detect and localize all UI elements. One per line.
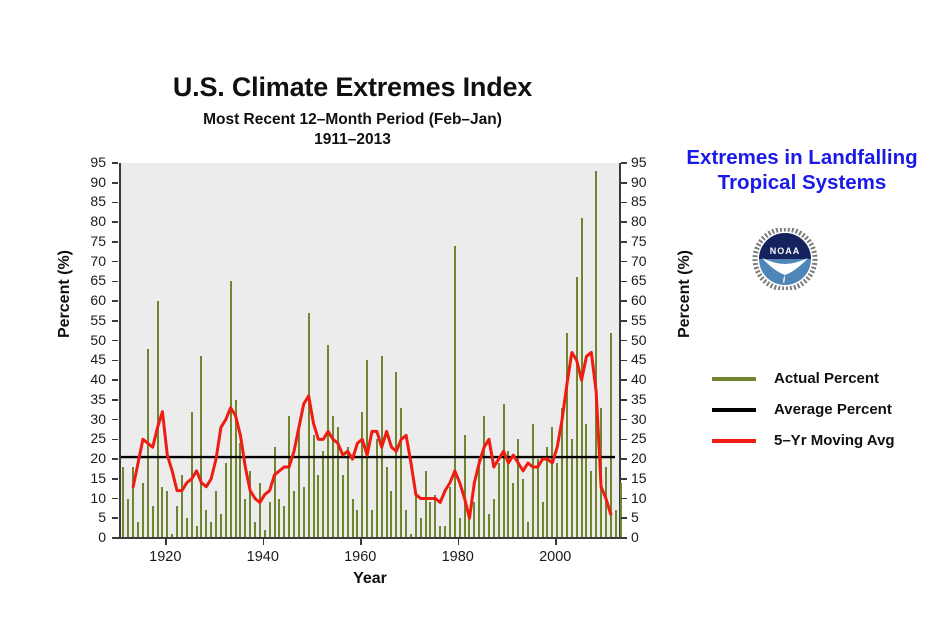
svg-text:NOAA: NOAA (770, 246, 801, 256)
plot-area (119, 163, 621, 538)
y-tick-left (112, 478, 118, 480)
y-tick-right (621, 320, 627, 322)
x-tick-label: 1960 (330, 549, 390, 565)
y-tick-label-right: 80 (631, 213, 661, 229)
y-tick-right (621, 498, 627, 500)
y-tick-left (112, 261, 118, 263)
y-tick-right (621, 340, 627, 342)
legend-label-average-percent: Average Percent (774, 399, 892, 421)
x-tick (360, 538, 362, 545)
x-tick (458, 538, 460, 545)
y-tick-label-right: 95 (631, 154, 661, 170)
x-tick (555, 538, 557, 545)
y-tick-label-right: 25 (631, 430, 661, 446)
y-tick-right (621, 300, 627, 302)
y-tick-right (621, 517, 627, 519)
moving-average-line (133, 352, 611, 518)
y-tick-label-right: 45 (631, 351, 661, 367)
subtitle-line-1: Most Recent 12–Month Period (Feb–Jan) (0, 111, 705, 129)
x-tick (263, 538, 265, 545)
y-tick-right (621, 439, 627, 441)
y-tick-label-right: 90 (631, 174, 661, 190)
y-tick-label-right: 70 (631, 253, 661, 269)
side-heading: Extremes in Landfalling Tropical Systems (676, 145, 928, 195)
y-tick-label-left: 45 (78, 351, 106, 367)
y-tick-label-left: 85 (78, 193, 106, 209)
x-tick-label: 2000 (525, 549, 585, 565)
y-tick-label-right: 60 (631, 292, 661, 308)
y-tick-left (112, 162, 118, 164)
y-tick-label-left: 5 (78, 509, 106, 525)
y-tick-label-left: 95 (78, 154, 106, 170)
chart-page: U.S. Climate Extremes Index Most Recent … (0, 0, 937, 625)
y-tick-left (112, 498, 118, 500)
y-axis-label-left: Percent (%) (56, 224, 74, 364)
y-tick-label-left: 30 (78, 411, 106, 427)
y-tick-right (621, 360, 627, 362)
y-tick-label-left: 80 (78, 213, 106, 229)
x-tick-label: 1980 (428, 549, 488, 565)
y-tick-right (621, 221, 627, 223)
y-tick-left (112, 281, 118, 283)
y-tick-left (112, 517, 118, 519)
y-tick-label-left: 75 (78, 233, 106, 249)
y-tick-right (621, 202, 627, 204)
y-tick-label-right: 40 (631, 371, 661, 387)
x-tick (165, 538, 167, 545)
y-tick-right (621, 182, 627, 184)
x-tick-label: 1920 (135, 549, 195, 565)
y-tick-label-left: 70 (78, 253, 106, 269)
y-tick-label-left: 65 (78, 272, 106, 288)
y-tick-right (621, 419, 627, 421)
y-tick-left (112, 419, 118, 421)
y-tick-left (112, 340, 118, 342)
line-overlay (121, 163, 623, 538)
y-tick-label-left: 60 (78, 292, 106, 308)
y-tick-label-right: 0 (631, 529, 661, 545)
y-tick-label-right: 10 (631, 490, 661, 506)
legend-swatch-actual-percent (712, 377, 756, 381)
legend-swatch-moving-avg (712, 439, 756, 443)
y-tick-right (621, 281, 627, 283)
y-tick-left (112, 379, 118, 381)
y-axis-label-right: Percent (%) (676, 224, 694, 364)
y-tick-label-right: 65 (631, 272, 661, 288)
y-tick-left (112, 399, 118, 401)
y-tick-label-left: 10 (78, 490, 106, 506)
y-tick-label-left: 20 (78, 450, 106, 466)
y-tick-right (621, 241, 627, 243)
y-tick-label-left: 50 (78, 332, 106, 348)
y-tick-left (112, 300, 118, 302)
noaa-logo: NOAA (740, 228, 830, 290)
x-tick-label: 1940 (233, 549, 293, 565)
y-tick-right (621, 379, 627, 381)
page-title: U.S. Climate Extremes Index (0, 72, 705, 103)
y-tick-left (112, 221, 118, 223)
y-tick-left (112, 458, 118, 460)
subtitle-line-2: 1911–2013 (0, 131, 705, 149)
y-tick-label-right: 50 (631, 332, 661, 348)
y-tick-left (112, 320, 118, 322)
y-tick-label-right: 30 (631, 411, 661, 427)
plot-series-layer (121, 163, 619, 538)
y-tick-right (621, 537, 627, 539)
y-tick-label-right: 5 (631, 509, 661, 525)
y-tick-label-left: 15 (78, 470, 106, 486)
y-tick-label-left: 0 (78, 529, 106, 545)
x-axis-line (117, 537, 623, 539)
y-tick-right (621, 478, 627, 480)
y-tick-right (621, 399, 627, 401)
y-tick-left (112, 439, 118, 441)
y-tick-label-left: 25 (78, 430, 106, 446)
y-tick-left (112, 182, 118, 184)
y-tick-right (621, 261, 627, 263)
y-tick-label-right: 75 (631, 233, 661, 249)
y-tick-label-left: 35 (78, 391, 106, 407)
y-tick-right (621, 458, 627, 460)
y-tick-left (112, 537, 118, 539)
y-tick-label-left: 55 (78, 312, 106, 328)
x-axis-label: Year (119, 570, 621, 588)
legend-swatch-average-percent (712, 408, 756, 412)
legend-label-actual-percent: Actual Percent (774, 368, 879, 390)
y-tick-label-right: 85 (631, 193, 661, 209)
y-tick-label-right: 35 (631, 391, 661, 407)
y-tick-label-left: 90 (78, 174, 106, 190)
y-tick-label-right: 55 (631, 312, 661, 328)
y-tick-label-right: 15 (631, 470, 661, 486)
y-tick-left (112, 241, 118, 243)
y-tick-label-left: 40 (78, 371, 106, 387)
y-tick-label-right: 20 (631, 450, 661, 466)
y-tick-left (112, 202, 118, 204)
legend-label-moving-avg: 5–Yr Moving Avg (774, 430, 895, 452)
y-tick-right (621, 162, 627, 164)
y-tick-left (112, 360, 118, 362)
